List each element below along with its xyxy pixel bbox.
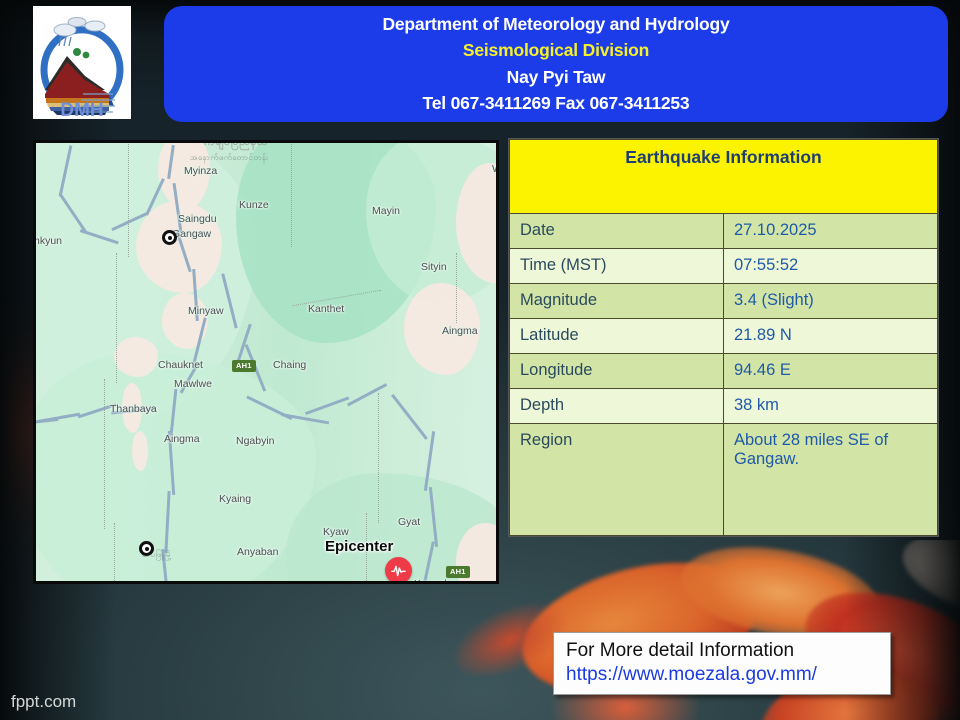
map-label: Kaungbwa [414,578,464,584]
map-urban-patch [114,337,158,377]
header-line-department: Department of Meteorology and Hydrology [382,12,729,37]
map-city-marker-gangaw [162,230,177,245]
seismograph-icon [391,563,406,578]
earthquake-info-table: Earthquake Information Date 27.10.2025 T… [509,139,938,536]
map-boundary [114,523,115,584]
map-label: Ngabyin [236,435,275,447]
map-label: Wingon [492,163,499,175]
map-burmese-sub-label: အနောက်ဖက်တောင်တန်း [190,152,269,164]
map-boundary [291,140,292,247]
map-label: Kyaing [219,493,251,505]
map-urban-patch [132,431,148,471]
table-row: Region About 28 miles SE of Gangaw. [510,424,938,536]
epicenter-marker[interactable] [385,557,412,584]
map-label: Kyauksaung [472,583,499,584]
table-cell-key: Time (MST) [510,249,724,284]
table-cell-key: Date [510,214,724,249]
map-label: Mawlwe [174,378,212,390]
dmh-logo: DMH [33,6,131,119]
table-cell-key: Latitude [510,319,724,354]
more-info-link[interactable]: https://www.moezala.gov.mm/ [566,663,880,687]
map-label: Anyaban [237,546,278,558]
map-label: Thanbaya [110,403,157,415]
map-label: Sityin [421,261,447,273]
dmh-logo-icon: DMH [33,6,131,119]
map-label: Kunze [239,199,269,211]
map-label: hkyun [34,235,62,247]
highway-badge-ah1: AH1 [446,566,470,578]
table-cell-value: 38 km [724,389,938,424]
map-label: Aingma [442,325,478,337]
header-banner: Department of Meteorology and Hydrology … [164,6,948,122]
table-cell-key: Depth [510,389,724,424]
table-cell-key: Region [510,424,724,536]
map-boundary [104,379,105,529]
table-row: Depth 38 km [510,389,938,424]
highway-badge-ah1: AH1 [232,360,256,372]
map-urban-patch [162,293,208,349]
table-cell-value: 21.89 N [724,319,938,354]
map-label: Kanthet [308,303,344,315]
table-title: Earthquake Information [510,140,938,214]
map-label: Kyaw [323,526,349,538]
table-cell-key: Longitude [510,354,724,389]
map-label: Mayin [372,205,400,217]
map-river [347,384,387,407]
map-boundary [128,140,129,257]
table-row: Time (MST) 07:55:52 [510,249,938,284]
table-cell-value: About 28 miles SE of Gangaw. [724,424,938,536]
more-info-box: For More detail Information https://www.… [553,632,891,695]
map-label: Myinza [184,165,217,177]
map-city-marker-south [139,541,154,556]
map-label: Aingma [164,433,200,445]
slide-root: DMH Department of Meteorology and Hydrol… [0,0,960,720]
dmh-logo-text: DMH [60,100,103,119]
table-title-row: Earthquake Information [510,140,938,214]
epicenter-text-label: Epicenter [325,538,393,555]
map-burmese-top-label: ကချင်ပြည်နယ် [204,140,268,151]
map-river [305,397,349,415]
map-canvas: ကချင်ပြည်နယ် အနောက်ဖက်တောင်တန်း ဆိပ်ဖြူမ… [36,143,496,581]
map-label: Saingdu [178,213,217,225]
table-cell-value: 94.46 E [724,354,938,389]
header-line-contact: Tel 067-3411269 Fax 067-3411253 [423,91,690,116]
map-label: Gyat [398,516,420,528]
map-boundary [378,393,379,523]
table-row: Date 27.10.2025 [510,214,938,249]
header-line-division: Seismological Division [463,38,649,63]
table-row: Magnitude 3.4 (Slight) [510,284,938,319]
table-cell-key: Magnitude [510,284,724,319]
map-label: Chauknet [158,359,203,371]
watermark: fppt.com [11,692,76,712]
map-boundary [456,253,457,323]
map-label: Chaing [273,359,306,371]
more-info-text: For More detail Information [566,639,880,663]
table-cell-value: 07:55:52 [724,249,938,284]
map-label: Minyaw [188,305,224,317]
map-river [391,394,427,440]
epicenter-map[interactable]: ကချင်ပြည်နယ် အနောက်ဖက်တောင်တန်း ဆိပ်ဖြူမ… [33,140,499,584]
table-cell-value: 27.10.2025 [724,214,938,249]
header-line-city: Nay Pyi Taw [507,65,606,90]
table-cell-value: 3.4 (Slight) [724,284,938,319]
map-label-gangaw: Gangaw [172,228,211,240]
map-boundary [116,253,117,383]
table-row: Latitude 21.89 N [510,319,938,354]
table-row: Longitude 94.46 E [510,354,938,389]
